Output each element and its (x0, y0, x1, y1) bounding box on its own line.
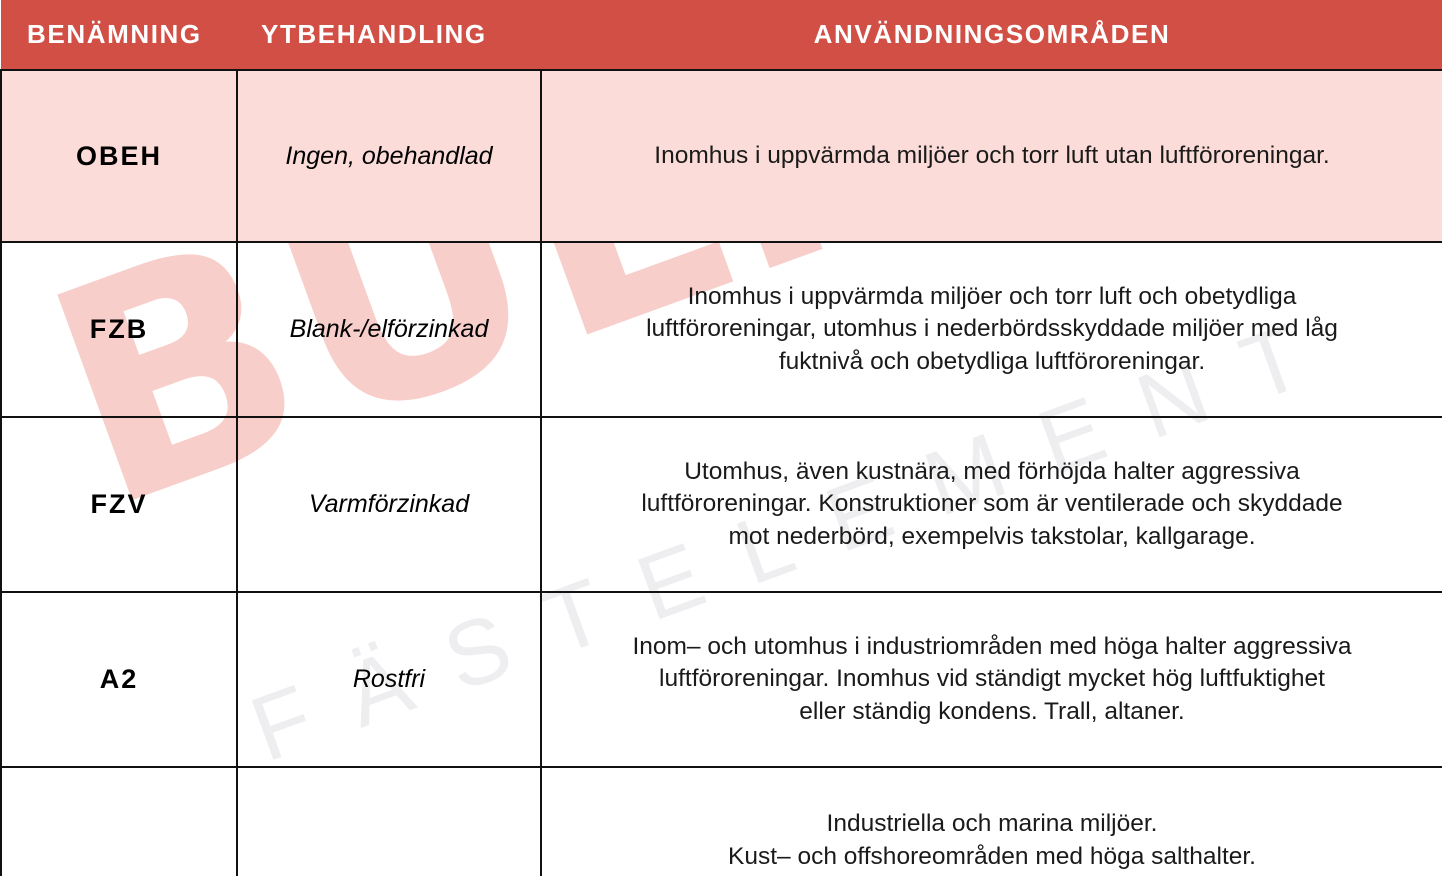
cell-ytbehandling: Rostfri (237, 592, 541, 767)
description-line: Utomhus, även kustnära, med förhöjda hal… (552, 456, 1432, 489)
description-line: Industriella och marina miljöer. (552, 808, 1432, 841)
table-header-row: BENÄMNING YTBEHANDLING ANVÄNDNINGSOMRÅDE… (1, 0, 1442, 70)
description-line: Inomhus i uppvärmda miljöer och torr luf… (552, 281, 1432, 314)
description-line: luftföroreningar. Inomhus vid ständigt m… (552, 663, 1432, 696)
column-header-benamning: BENÄMNING (1, 0, 237, 70)
description-line: luftföroreningar. Konstruktioner som är … (552, 488, 1432, 521)
table-header: BENÄMNING YTBEHANDLING ANVÄNDNINGSOMRÅDE… (1, 0, 1442, 70)
table-row: FZV Varmförzinkad Utomhus, även kustnära… (1, 417, 1442, 592)
cell-benamning: A2 (1, 592, 237, 767)
cell-anvandningsomraden: Inom– och utomhus i industriområden med … (541, 592, 1442, 767)
description-line: Inomhus i uppvärmda miljöer och torr luf… (552, 140, 1432, 173)
cell-ytbehandling: Blank-/elförzinkad (237, 242, 541, 417)
table-container: BENÄMNING YTBEHANDLING ANVÄNDNINGSOMRÅDE… (0, 0, 1442, 876)
cell-benamning: FZB (1, 242, 237, 417)
cell-anvandningsomraden: Industriella och marina miljöer. Kust– o… (541, 767, 1442, 876)
cell-benamning: FZV (1, 417, 237, 592)
table-row: A2 Rostfri Inom– och utomhus i industrio… (1, 592, 1442, 767)
column-header-anvandningsomraden: ANVÄNDNINGSOMRÅDEN (541, 0, 1442, 70)
description-line: mot nederbörd, exempelvis takstolar, kal… (552, 521, 1432, 554)
table-row: A4 Rostfri, syrafast Industriella och ma… (1, 767, 1442, 876)
cell-anvandningsomraden: Inomhus i uppvärmda miljöer och torr luf… (541, 242, 1442, 417)
cell-ytbehandling: Rostfri, syrafast (237, 767, 541, 876)
cell-anvandningsomraden: Utomhus, även kustnära, med förhöjda hal… (541, 417, 1442, 592)
column-header-ytbehandling: YTBEHANDLING (237, 0, 541, 70)
description-line: Inom– och utomhus i industriområden med … (552, 631, 1432, 664)
cell-ytbehandling: Varmförzinkad (237, 417, 541, 592)
description-line: eller ständig kondens. Trall, altaner. (552, 696, 1432, 729)
description-line: Kust– och offshoreområden med höga salth… (552, 841, 1432, 874)
surface-treatment-table-page: BULTAB FÄSTELEMENT BENÄMNING YTBEHANDLIN… (0, 0, 1442, 876)
cell-benamning: A4 (1, 767, 237, 876)
cell-anvandningsomraden: Inomhus i uppvärmda miljöer och torr luf… (541, 70, 1442, 242)
description-line: fuktnivå och obetydliga luftföroreningar… (552, 346, 1432, 379)
cell-ytbehandling: Ingen, obehandlad (237, 70, 541, 242)
surface-treatment-table: BENÄMNING YTBEHANDLING ANVÄNDNINGSOMRÅDE… (0, 0, 1442, 876)
table-row: OBEH Ingen, obehandlad Inomhus i uppvärm… (1, 70, 1442, 242)
cell-benamning: OBEH (1, 70, 237, 242)
table-body: OBEH Ingen, obehandlad Inomhus i uppvärm… (1, 70, 1442, 876)
table-row: FZB Blank-/elförzinkad Inomhus i uppvärm… (1, 242, 1442, 417)
description-line: luftföroreningar, utomhus i nederbördssk… (552, 313, 1432, 346)
